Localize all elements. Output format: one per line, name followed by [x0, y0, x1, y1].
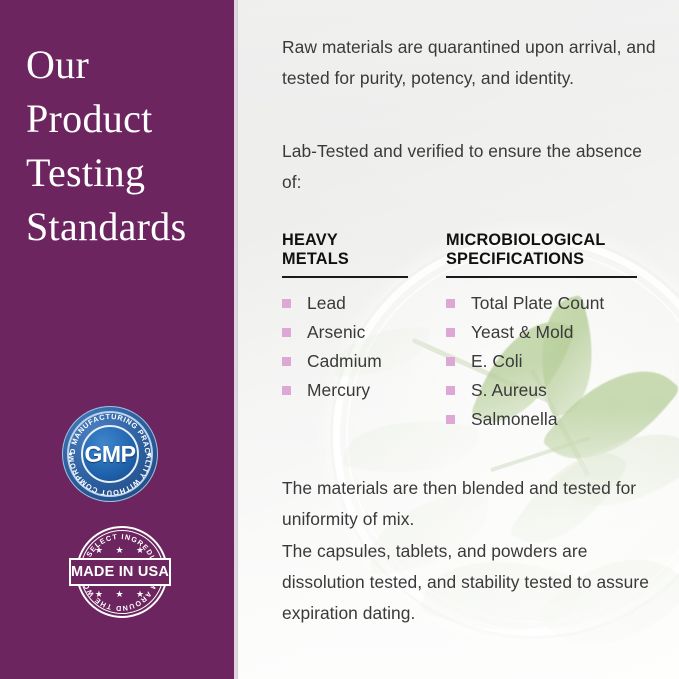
- page-title: Our Product Testing Standards: [26, 38, 231, 254]
- list-item-label: Lead: [307, 293, 346, 314]
- list-item: Lead: [282, 293, 410, 314]
- list-item-label: Arsenic: [307, 322, 365, 343]
- microbiological-heading-line-2: SPECIFICATIONS: [446, 250, 658, 269]
- square-bullet-icon: [282, 299, 291, 308]
- column-heavy-metals: HEAVY METALS Lead Arsenic Cadmium Mercur…: [282, 231, 410, 409]
- closing-paragraph-2: The capsules, tablets, and powders are d…: [282, 536, 658, 629]
- list-item: Total Plate Count: [446, 293, 658, 314]
- content-layer: Raw materials are quarantined upon arriv…: [238, 0, 679, 679]
- intro-paragraph-2: Lab-Tested and verified to ensure the ab…: [282, 136, 658, 198]
- list-microbiological: Total Plate Count Yeast & Mold E. Coli S…: [446, 293, 658, 430]
- list-item: Mercury: [282, 380, 410, 401]
- closing-paragraph-1: The materials are then blended and teste…: [282, 473, 654, 535]
- list-item-label: Salmonella: [471, 409, 558, 430]
- list-item: Cadmium: [282, 351, 410, 372]
- usa-banner-label: MADE IN USA: [71, 564, 169, 580]
- heavy-metals-heading-line-2: METALS: [282, 250, 410, 269]
- made-in-usa-badge-icon: WITH SELECT INGREDIENTS FROM AROUND THE …: [66, 526, 174, 624]
- square-bullet-icon: [282, 328, 291, 337]
- square-bullet-icon: [446, 328, 455, 337]
- usa-banner: MADE IN USA: [69, 558, 171, 586]
- list-item-label: Mercury: [307, 380, 370, 401]
- gmp-center-label: GMP: [62, 406, 158, 502]
- column-microbiological-specifications: MICROBIOLOGICAL SPECIFICATIONS Total Pla…: [446, 231, 658, 438]
- column-rule-microbiological: [446, 276, 637, 278]
- column-heading-heavy-metals: HEAVY METALS: [282, 231, 410, 268]
- square-bullet-icon: [446, 415, 455, 424]
- list-item-label: E. Coli: [471, 351, 523, 372]
- usa-stars-bottom: ★ ★ ★: [76, 589, 168, 600]
- page-title-line-3: Testing: [26, 146, 231, 200]
- intro-paragraph-1: Raw materials are quarantined upon arriv…: [282, 32, 658, 94]
- list-item-label: Cadmium: [307, 351, 382, 372]
- list-item: E. Coli: [446, 351, 658, 372]
- usa-stars-top: ★ ★ ★: [76, 545, 168, 556]
- page-title-line-2: Product: [26, 92, 231, 146]
- list-item-label: S. Aureus: [471, 380, 547, 401]
- square-bullet-icon: [282, 386, 291, 395]
- list-item-label: Yeast & Mold: [471, 322, 573, 343]
- list-item-label: Total Plate Count: [471, 293, 604, 314]
- list-item: Arsenic: [282, 322, 410, 343]
- gmp-badge-icon: GOOD MANUFACTURING PRACTICE QUALITY WITH…: [62, 406, 158, 502]
- square-bullet-icon: [446, 386, 455, 395]
- list-item: Salmonella: [446, 409, 658, 430]
- square-bullet-icon: [446, 299, 455, 308]
- column-heading-microbiological: MICROBIOLOGICAL SPECIFICATIONS: [446, 231, 658, 268]
- page-title-line-4: Standards: [26, 200, 231, 254]
- right-content-panel: Raw materials are quarantined upon arriv…: [238, 0, 679, 679]
- heavy-metals-heading-line-1: HEAVY: [282, 231, 410, 250]
- page-title-line-1: Our: [26, 38, 231, 92]
- square-bullet-icon: [282, 357, 291, 366]
- list-item: S. Aureus: [446, 380, 658, 401]
- square-bullet-icon: [446, 357, 455, 366]
- product-testing-standards-infographic: Our Product Testing Standards GOOD MANUF…: [0, 0, 679, 679]
- microbiological-heading-line-1: MICROBIOLOGICAL: [446, 231, 658, 250]
- list-heavy-metals: Lead Arsenic Cadmium Mercury: [282, 293, 410, 401]
- left-purple-panel: Our Product Testing Standards GOOD MANUF…: [0, 0, 234, 679]
- list-item: Yeast & Mold: [446, 322, 658, 343]
- column-rule-heavy-metals: [282, 276, 408, 278]
